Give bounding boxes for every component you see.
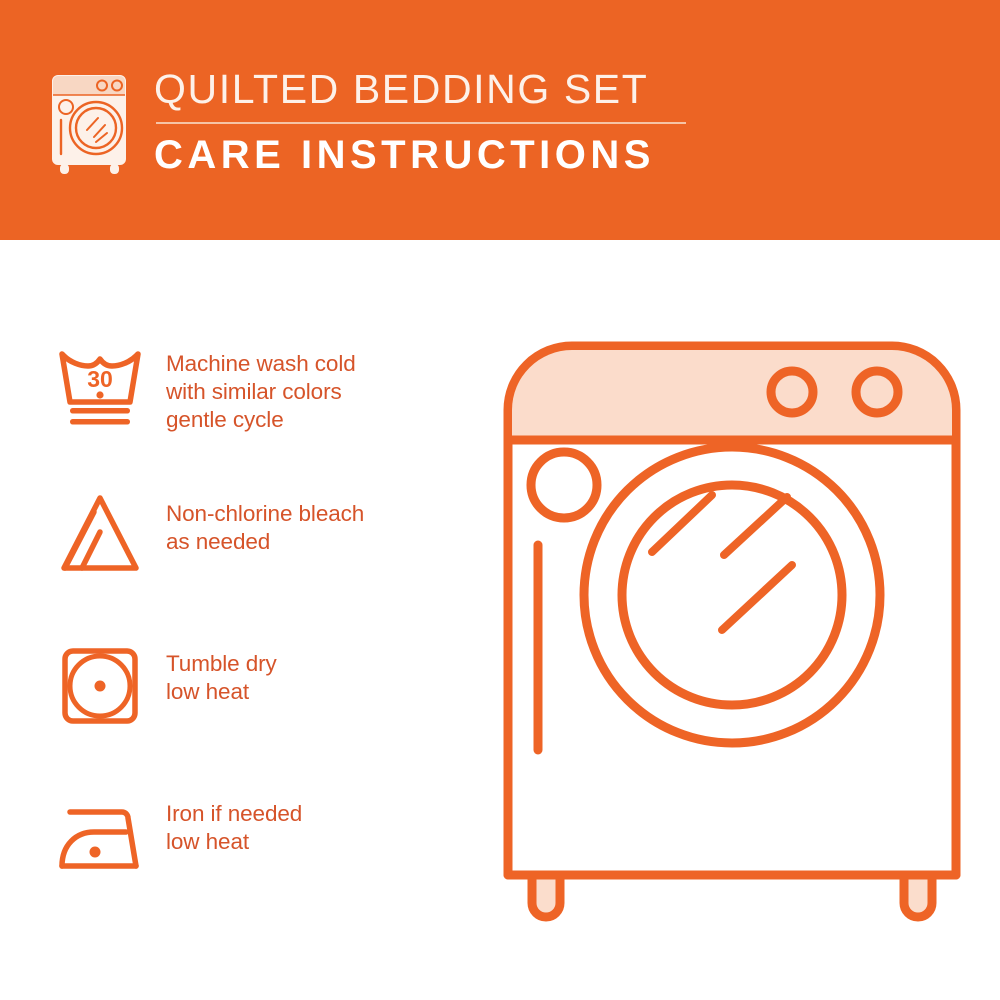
care-text-machine-wash: Machine wash cold with similar colors ge… — [166, 336, 356, 434]
care-row-bleach: Non-chlorine bleach as needed — [46, 486, 476, 636]
header-content: QUILTED BEDDING SET CARE INSTRUCTIONS — [44, 62, 686, 180]
machine-leg-right — [904, 875, 932, 917]
machine-leg-left — [532, 875, 560, 917]
bleach-triangle-icon — [54, 490, 146, 582]
care-symbol-iron — [46, 786, 154, 882]
care-symbol-tumble-dry — [46, 636, 154, 732]
wash-temperature-label: 30 — [87, 366, 113, 392]
washing-machine-illustration — [492, 330, 972, 940]
tumble-dry-icon — [54, 640, 146, 732]
machine-control-panel — [512, 350, 952, 440]
title-divider — [156, 122, 686, 124]
care-instructions-page: QUILTED BEDDING SET CARE INSTRUCTIONS 30 — [0, 0, 1000, 1000]
care-text-tumble-dry: Tumble dry low heat — [166, 636, 277, 706]
page-title: QUILTED BEDDING SET — [154, 66, 686, 112]
iron-icon — [54, 790, 146, 882]
care-symbol-wash: 30 — [46, 336, 154, 432]
care-symbol-bleach — [46, 486, 154, 582]
care-text-bleach: Non-chlorine bleach as needed — [166, 486, 364, 556]
care-row-iron: Iron if needed low heat — [46, 786, 476, 936]
care-row-machine-wash: 30 Machine wash cold with similar colors… — [46, 336, 476, 486]
page-subtitle: CARE INSTRUCTIONS — [154, 133, 686, 177]
washing-machine-icon — [44, 68, 140, 180]
care-instruction-list: 30 Machine wash cold with similar colors… — [46, 336, 476, 936]
care-row-tumble-dry: Tumble dry low heat — [46, 636, 476, 786]
header-titles: QUILTED BEDDING SET CARE INSTRUCTIONS — [154, 62, 686, 177]
header-band: QUILTED BEDDING SET CARE INSTRUCTIONS — [0, 0, 1000, 240]
wash-tub-icon: 30 — [54, 340, 146, 432]
care-text-iron: Iron if needed low heat — [166, 786, 302, 856]
